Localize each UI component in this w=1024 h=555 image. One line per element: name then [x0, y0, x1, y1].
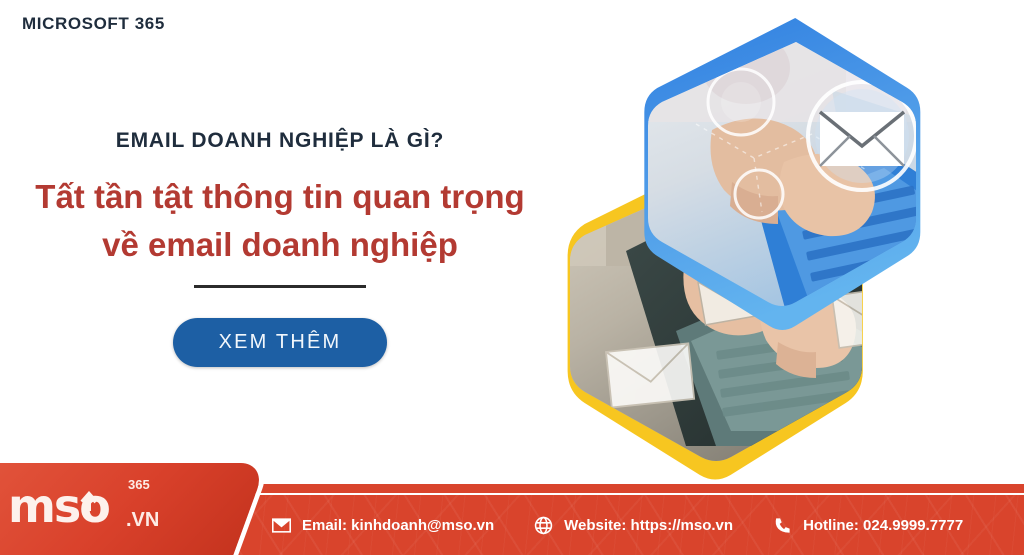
contact-hotline[interactable]: Hotline: 024.9999.7777 [773, 516, 963, 535]
contact-email-label: Email: kinhdoanh@mso.vn [302, 517, 494, 534]
hero-artwork [556, 6, 976, 486]
contact-email[interactable]: Email: kinhdoanh@mso.vn [272, 516, 494, 535]
contact-website[interactable]: Website: https://mso.vn [534, 516, 733, 535]
footer: Email: kinhdoanh@mso.vn Website: https:/… [0, 455, 1024, 555]
cta-container: XEM THÊM [0, 318, 560, 367]
globe-icon [534, 516, 553, 535]
hero-headline-line1: Tất tần tật thông tin quan trọng [0, 173, 560, 221]
hero-headline-line2: về email doanh nghiệp [0, 221, 560, 269]
hero-kicker: EMAIL DOANH NGHIỆP LÀ GÌ? [0, 128, 560, 153]
logo-arrow-icon [72, 491, 106, 530]
blue-hexagon-photo [636, 12, 956, 332]
read-more-button[interactable]: XEM THÊM [173, 318, 388, 367]
mso-logo[interactable]: mso 365 .VN [0, 463, 267, 555]
hero-headline: Tất tần tật thông tin quan trọng về emai… [0, 173, 560, 269]
brand-tag: MICROSOFT 365 [22, 14, 165, 34]
envelope-icon [272, 516, 291, 535]
phone-icon [773, 516, 792, 535]
contact-hotline-label: Hotline: 024.9999.7777 [803, 517, 963, 534]
logo-superscript: 365 [128, 477, 150, 492]
hero-copy: EMAIL DOANH NGHIỆP LÀ GÌ? Tất tần tật th… [0, 128, 560, 367]
footer-accent-bar [150, 484, 1024, 493]
contact-website-label: Website: https://mso.vn [564, 517, 733, 534]
headline-divider [194, 285, 366, 288]
logo-suffix: .VN [126, 509, 159, 532]
